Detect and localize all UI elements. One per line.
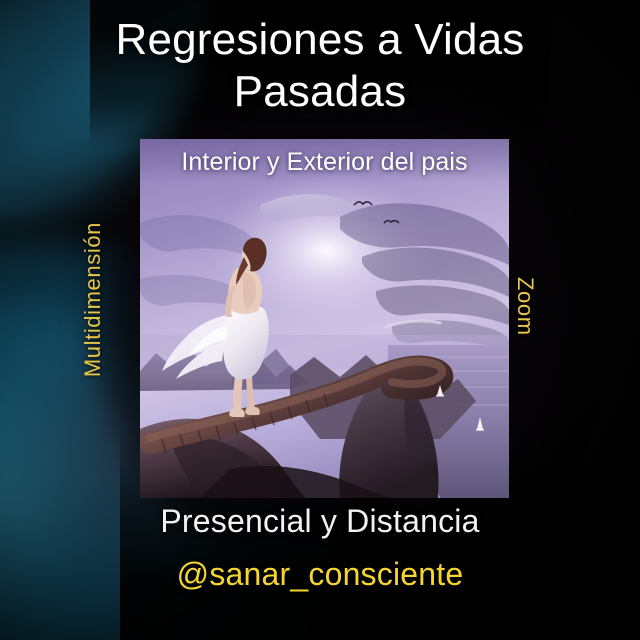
photo-caption: Interior y Exterior del pais	[140, 148, 509, 177]
left-vertical-label: Multidimensión	[80, 222, 106, 377]
poster-canvas: Regresiones a Vidas Pasadas Interior y E…	[0, 0, 640, 640]
center-photo	[140, 139, 509, 498]
social-handle[interactable]: @sanar_consciente	[0, 556, 640, 593]
right-vertical-label: Zoom	[512, 277, 538, 336]
modality-line: Presencial y Distancia	[0, 503, 640, 540]
photo-illustration	[140, 139, 509, 498]
page-title: Regresiones a Vidas Pasadas	[0, 14, 640, 118]
